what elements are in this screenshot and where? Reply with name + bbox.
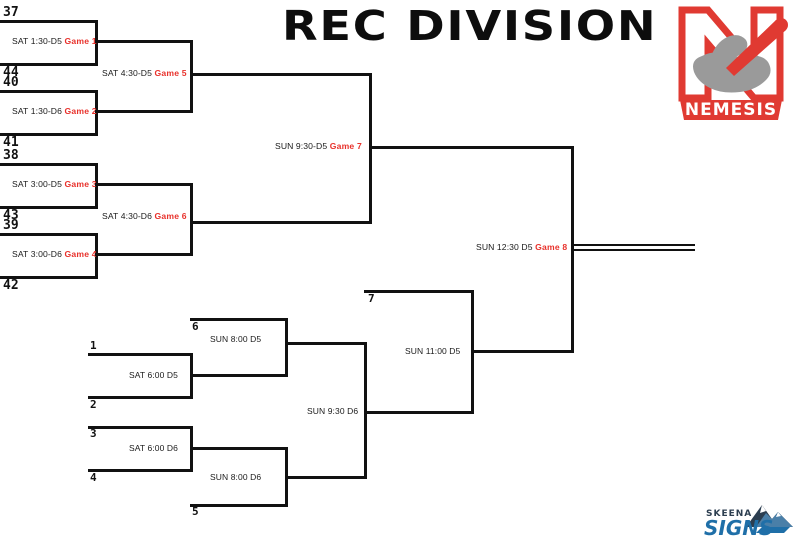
nemesis-logo: NEMESIS <box>668 2 794 124</box>
game-label-game-1: Game 1 <box>64 36 96 46</box>
bracket-line-game-6-top <box>95 183 193 186</box>
champion-line-top <box>571 244 695 246</box>
bracket-line-lb-sun-800-d5-top <box>190 318 288 321</box>
match-game-7: SUN 9:30-D5 Game 7 <box>275 142 362 151</box>
game-label-game-4: Game 4 <box>64 249 96 259</box>
seed-7: 7 <box>368 293 375 304</box>
bracket-connector-game-5 <box>190 40 193 113</box>
bracket-line-game-6-bottom <box>95 253 193 256</box>
match-lb-sat-600-d6: SAT 6:00 D6 <box>129 444 178 453</box>
bracket-line-lb-sun-800-d6-top <box>190 447 288 450</box>
game-label-game-2: Game 2 <box>64 106 96 116</box>
seed-42: 42 <box>3 279 19 292</box>
seed-37: 37 <box>3 6 19 19</box>
seed-39: 39 <box>3 219 19 232</box>
bracket-line-game-7-top <box>190 73 372 76</box>
match-game-6: SAT 4:30-D6 Game 6 <box>102 212 187 221</box>
page-title: REC DIVISION <box>282 2 657 50</box>
match-lb-sun-1100-d5: SUN 11:00 D5 <box>405 347 460 356</box>
bracket-line-lb-sat-600-d5-bottom <box>88 396 193 399</box>
bracket-line-lb-sat-600-d6-top <box>88 426 193 429</box>
bracket-line-game-4-top <box>0 233 98 236</box>
match-lb-sun-800-d5: SUN 8:00 D5 <box>210 335 261 344</box>
bracket-line-lb-sun-800-d5-bottom <box>190 374 288 377</box>
game-label-game-3: Game 3 <box>64 179 96 189</box>
seed-38: 38 <box>3 149 19 162</box>
champion-line <box>571 244 695 251</box>
match-time-game-3: SAT 3:00-D5 <box>12 179 62 189</box>
bracket-line-lb-sun-930-d6-top <box>285 342 367 345</box>
match-game-5: SAT 4:30-D5 Game 5 <box>102 69 187 78</box>
bracket-line-lb-sun-1100-d5-top <box>364 290 474 293</box>
champion-line-bottom <box>571 249 695 251</box>
bracket-line-game-1-top <box>0 20 98 23</box>
game-label-game-5: Game 5 <box>154 68 186 78</box>
bracket-line-game-3-top <box>0 163 98 166</box>
bracket-canvas: REC DIVISION NEMESIS SKEENA SIGNS <box>0 0 799 547</box>
seed-3: 3 <box>90 428 97 439</box>
game-label-game-8: Game 8 <box>535 242 567 252</box>
bracket-connector-lb-sun-800-d5 <box>285 318 288 377</box>
bracket-line-game-5-bottom <box>95 110 193 113</box>
match-lb-sat-600-d5: SAT 6:00 D5 <box>129 371 178 380</box>
bracket-line-lb-sat-600-d6-bottom <box>88 469 193 472</box>
match-lb-sun-800-d6: SUN 8:00 D6 <box>210 473 261 482</box>
bracket-line-game-7-to-final <box>369 146 574 149</box>
match-time-game-8: SUN 12:30 D5 <box>476 242 533 252</box>
bracket-line-lb-sun-800-d6-bottom <box>190 504 288 507</box>
bracket-line-game-2-top <box>0 90 98 93</box>
match-game-3: SAT 3:00-D5 Game 3 <box>12 180 97 189</box>
seed-6: 6 <box>192 321 199 332</box>
skeena-signs-logo: SKEENA SIGNS <box>700 497 795 541</box>
game-label-game-7: Game 7 <box>330 141 362 151</box>
bracket-line-lb-final-to-final <box>471 350 574 353</box>
bracket-connector-game-6 <box>190 183 193 256</box>
bracket-line-lb-sat-600-d5-top <box>88 353 193 356</box>
seed-1: 1 <box>90 340 97 351</box>
nemesis-wordmark: NEMESIS <box>685 100 777 120</box>
bracket-line-lb-sun-930-d6-bottom <box>285 476 367 479</box>
seed-4: 4 <box>90 472 97 483</box>
bracket-line-game-7-bottom <box>190 221 372 224</box>
match-game-4: SAT 3:00-D6 Game 4 <box>12 250 97 259</box>
match-time-game-6: SAT 4:30-D6 <box>102 211 152 221</box>
bracket-line-game-5-top <box>95 40 193 43</box>
match-game-1: SAT 1:30-D5 Game 1 <box>12 37 97 46</box>
game-label-game-6: Game 6 <box>154 211 186 221</box>
match-time-game-4: SAT 3:00-D6 <box>12 249 62 259</box>
seed-2: 2 <box>90 399 97 410</box>
match-game-2: SAT 1:30-D6 Game 2 <box>12 107 97 116</box>
seed-40: 40 <box>3 76 19 89</box>
bracket-line-lb-sun-1100-d5-bottom <box>364 411 474 414</box>
match-time-game-5: SAT 4:30-D5 <box>102 68 152 78</box>
match-time-game-1: SAT 1:30-D5 <box>12 36 62 46</box>
match-lb-sun-930-d6: SUN 9:30 D6 <box>307 407 358 416</box>
match-time-game-2: SAT 1:30-D6 <box>12 106 62 116</box>
seed-5: 5 <box>192 506 199 517</box>
match-time-game-7: SUN 9:30-D5 <box>275 141 327 151</box>
match-game-8: SUN 12:30 D5 Game 8 <box>476 243 567 252</box>
